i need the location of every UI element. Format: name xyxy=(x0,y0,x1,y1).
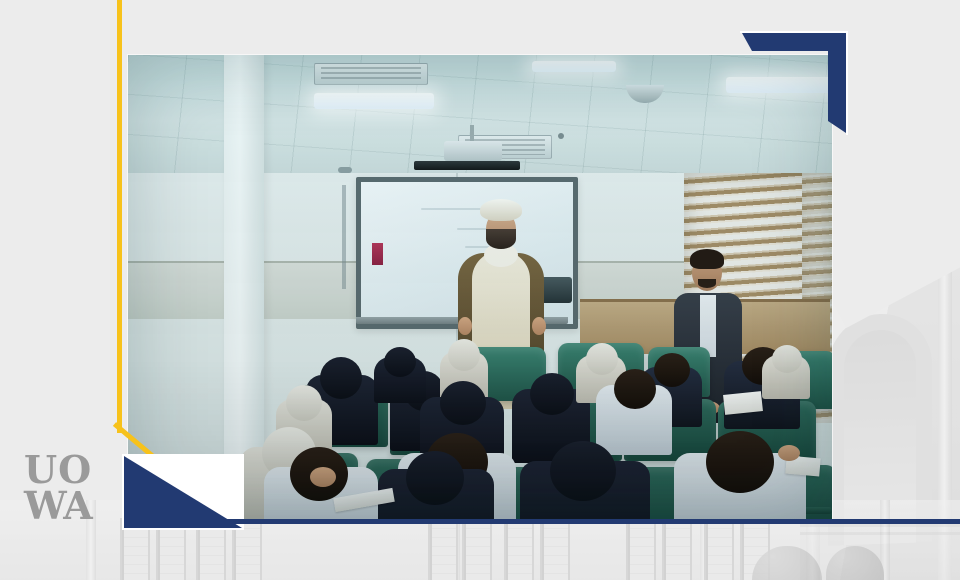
banner-canvas: UO WA xyxy=(0,0,960,580)
facade-window xyxy=(704,518,734,580)
classroom-lecture-photo xyxy=(128,55,832,523)
facade-window xyxy=(740,518,770,580)
arch-pier-right xyxy=(938,228,952,580)
facade-shrub xyxy=(752,546,822,580)
facade-window xyxy=(462,518,492,580)
uowa-logo: UO WA xyxy=(24,452,110,526)
facade-window xyxy=(540,518,570,580)
facade-window xyxy=(428,518,458,580)
facade-shrub xyxy=(826,546,884,580)
facade-column xyxy=(880,500,890,580)
facade-window xyxy=(504,518,534,580)
navy-triangle-shape xyxy=(124,456,242,528)
navy-underline xyxy=(128,519,960,524)
arch-cornice-upper xyxy=(800,524,960,527)
classroom-scene xyxy=(128,55,832,523)
gold-vertical-rule xyxy=(117,0,122,433)
navy-bracket-vertical xyxy=(828,33,846,133)
facade-window xyxy=(626,518,656,580)
arch-cornice-lower xyxy=(800,532,960,535)
facade-window xyxy=(662,518,692,580)
arch-ring xyxy=(828,312,932,546)
navy-corner-bracket xyxy=(742,33,846,133)
logo-line-two: WA xyxy=(24,488,110,524)
photo-vignette xyxy=(128,55,832,523)
